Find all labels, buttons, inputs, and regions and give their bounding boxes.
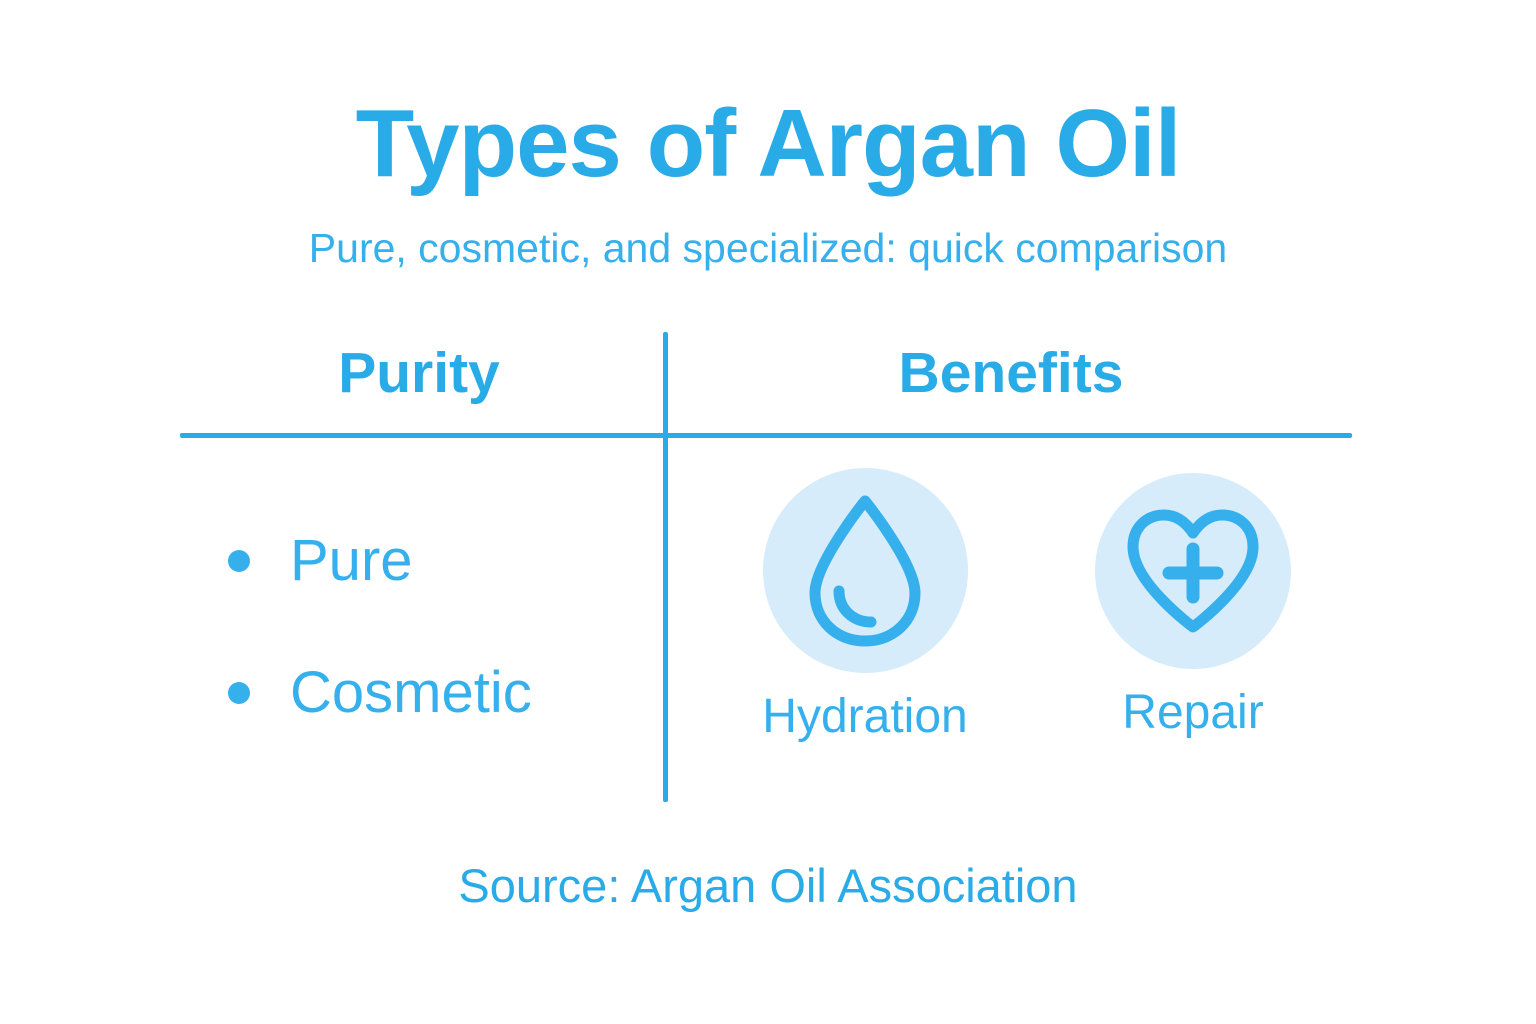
benefit-label: Hydration	[745, 693, 985, 741]
purity-item-label: Pure	[290, 532, 413, 590]
icon-circle-hydration	[763, 468, 968, 673]
column-header-benefits: Benefits	[670, 345, 1352, 402]
vertical-divider	[663, 332, 668, 802]
list-item: Cosmetic	[228, 627, 658, 759]
heart-plus-icon	[1121, 505, 1265, 637]
infographic-canvas: Types of Argan Oil Pure, cosmetic, and s…	[0, 0, 1536, 1024]
icon-circle-repair	[1095, 473, 1291, 669]
horizontal-divider	[180, 433, 1352, 438]
page-subtitle: Pure, cosmetic, and specialized: quick c…	[0, 228, 1536, 269]
bullet-dot-icon	[228, 682, 250, 704]
source-attribution: Source: Argan Oil Association	[0, 862, 1536, 909]
column-header-purity: Purity	[180, 345, 658, 402]
purity-list: Pure Cosmetic	[228, 495, 658, 759]
benefit-item-repair: Repair	[1073, 468, 1313, 737]
bullet-dot-icon	[228, 550, 250, 572]
list-item: Pure	[228, 495, 658, 627]
benefit-label: Repair	[1073, 689, 1313, 737]
benefit-item-hydration: Hydration	[745, 468, 985, 741]
benefits-list: Hydration Repair	[690, 468, 1330, 788]
water-drop-icon	[799, 491, 931, 651]
purity-item-label: Cosmetic	[290, 664, 532, 722]
page-title: Types of Argan Oil	[0, 96, 1536, 192]
